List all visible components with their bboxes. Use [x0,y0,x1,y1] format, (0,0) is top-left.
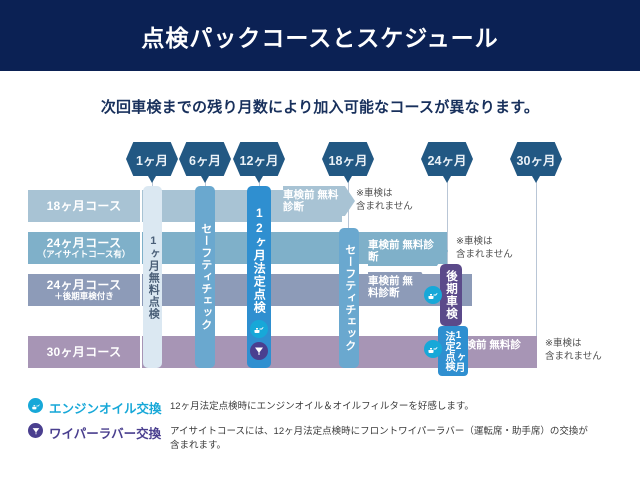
schedule-infographic: 点検パックコースとスケジュール 次回車検までの残り月数により加入可能なコースが異… [0,0,640,480]
timeline-badge-label: 12ヶ月 [240,150,279,169]
course-label-main: 24ヶ月コース [47,279,122,292]
legend-description-engine-oil: 12ヶ月法定点検時にエンジンオイル＆オイルフィルターを好感します。 [170,400,474,414]
wiper-blade-icon [250,342,268,360]
timeline-badge-label: 6ヶ月 [189,150,221,169]
note-not-included-row4: ※車検は 含まれません [545,338,602,364]
course-label-sub: ＋後期車検付き [54,292,114,301]
timeline-badge-tail-30m [532,176,540,183]
oil-can-icon-row3 [424,286,442,304]
service-legal-12m: 12ヶ月法定点検 [247,186,271,368]
service-late-inspection: 後期車検 [440,264,462,326]
tickline-30m [536,176,537,336]
legend-description-wiper-rubber: アイサイトコースには、12ヶ月法定点検時にフロントワイパーラバー（運転席・助手席… [170,425,588,453]
timeline-badge-12m: 12ヶ月 [233,142,285,176]
course-label-24m-eyesight: 24ヶ月コース （アイサイトコース有） [28,232,140,264]
oil-can-icon-row4 [424,340,442,358]
timeline-badge-tail-1m [148,176,156,183]
timeline-badge-tail-12m [255,176,263,183]
timeline-badge-tail-24m [443,176,451,183]
service-safety-check-6m: セーフティチェック [195,186,215,368]
legend-item-wiper-rubber: ワイパーラバー交換 [28,423,161,442]
legend-label: エンジンオイル交換 [49,398,162,417]
course-label-18m: 18ヶ月コース [28,190,140,222]
legal-12m-part-b: 12ヶ月 [453,330,463,372]
legend-item-engine-oil: エンジンオイル交換 [28,398,162,417]
wiper-blade-icon [28,423,43,438]
course-label-30m: 30ヶ月コース [28,336,140,368]
note-not-included-row1: ※車検は 含まれません [356,188,413,214]
oil-can-icon [28,398,43,413]
course-label-sub: （アイサイトコース有） [38,250,131,259]
timeline-badge-6m: 6ヶ月 [179,142,231,176]
timeline-badge-label: 24ヶ月 [428,150,467,169]
pre-inspection-chip-row1: 車検前 無料診断 [283,186,355,216]
note-not-included-row2: ※車検は 含まれません [456,236,513,262]
pre-inspection-chip-row2: 車検前 無料診断 [368,236,448,266]
timeline-badge-24m: 24ヶ月 [421,142,473,176]
service-safety-check-18m: セーフティチェック [339,228,359,368]
legal-12m-part-a: 法定点検 [443,331,453,371]
timeline-badge-18m: 18ヶ月 [322,142,374,176]
timeline-badge-30m: 30ヶ月 [510,142,562,176]
timeline-badge-tail-6m [201,176,209,183]
pre-inspection-chip-row3: 車検前 無料診断 [368,272,430,302]
timeline-badge-1m: 1ヶ月 [126,142,178,176]
timeline-badge-tail-18m [344,176,352,183]
legend-label: ワイパーラバー交換 [49,423,161,442]
timeline-badge-label: 18ヶ月 [329,150,368,169]
course-label-main: 30ヶ月コース [47,346,122,359]
timeline-badge-label: 30ヶ月 [517,150,556,169]
course-label-main: 18ヶ月コース [47,200,122,213]
oil-can-icon [250,320,268,338]
timeline-badge-label: 1ヶ月 [136,150,168,169]
service-legal-12m-row4: 法定点検 12ヶ月 [438,326,468,376]
course-label-24m-late: 24ヶ月コース ＋後期車検付き [28,274,140,306]
service-first-inspection: 1ヶ月無料点検 [143,186,162,368]
course-label-main: 24ヶ月コース [47,237,122,250]
